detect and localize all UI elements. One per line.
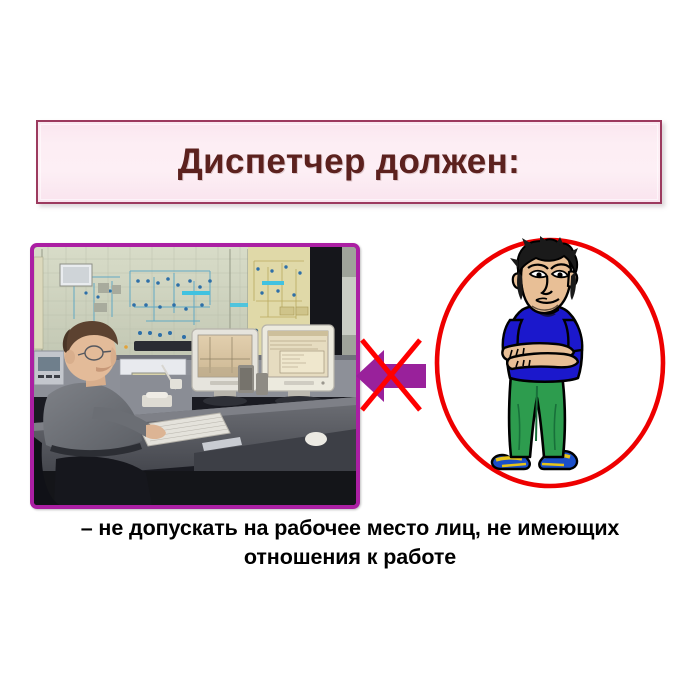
title-banner: Диспетчер должен: (36, 120, 662, 204)
page-title: Диспетчер должен: (178, 142, 520, 182)
control-room-photo (30, 243, 360, 509)
caption-line-2: отношения к работе (30, 543, 670, 572)
cartoon-figure (492, 236, 582, 469)
caption-text: – не допускать на рабочее место лиц, не … (30, 514, 670, 572)
unauthorized-person-cartoon (432, 236, 668, 490)
caption-line-1: – не допускать на рабочее место лиц, не … (30, 514, 670, 543)
blocked-access-arrow (354, 336, 428, 414)
photo-image (34, 247, 356, 505)
